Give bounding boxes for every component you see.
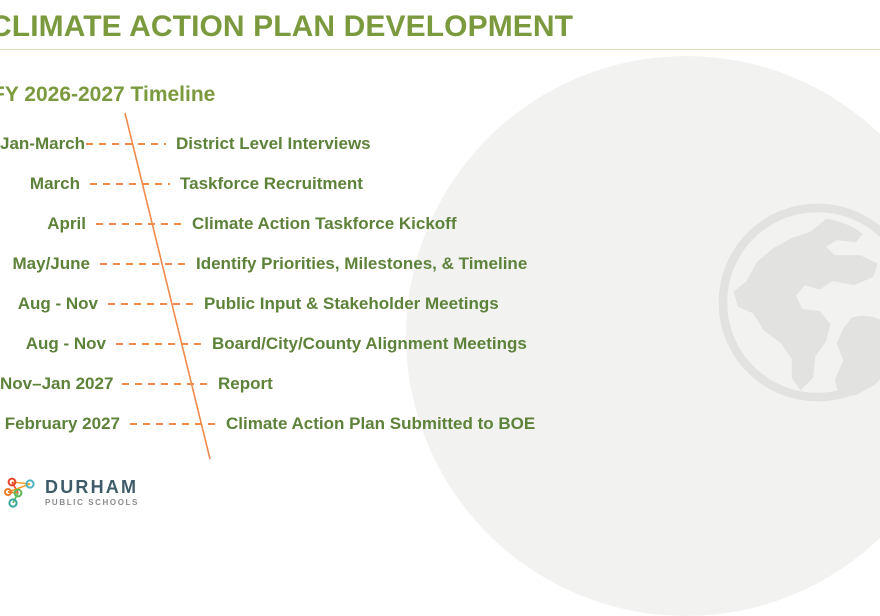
title-divider: [0, 49, 880, 50]
timeline-row: May/JuneIdentify Priorities, Milestones,…: [0, 244, 700, 284]
timeline-connector: [122, 383, 208, 385]
timeline-row: Aug - NovPublic Input & Stakeholder Meet…: [0, 284, 700, 324]
timeline-row: February 2027Climate Action Plan Submitt…: [0, 404, 700, 444]
timeline-period: Jan-March: [0, 134, 76, 154]
timeline-milestone: Board/City/County Alignment Meetings: [212, 334, 527, 354]
timeline-list: Jan-MarchDistrict Level InterviewsMarchT…: [0, 124, 700, 444]
timeline-period: Nov–Jan 2027: [0, 374, 112, 394]
timeline-milestone: Taskforce Recruitment: [180, 174, 363, 194]
timeline-connector: [86, 143, 166, 145]
timeline-period: April: [0, 214, 86, 234]
timeline-row: AprilClimate Action Taskforce Kickoff: [0, 204, 700, 244]
timeline-connector: [130, 423, 216, 425]
timeline-period: Aug - Nov: [0, 334, 106, 354]
timeline-row: Nov–Jan 2027Report: [0, 364, 700, 404]
logo-subtitle: PUBLIC SCHOOLS: [45, 499, 139, 507]
timeline-connector: [90, 183, 170, 185]
timeline-period: Aug - Nov: [0, 294, 98, 314]
timeline-milestone: Identify Priorities, Milestones, & Timel…: [196, 254, 527, 274]
subtitle: FY 2026-2027 Timeline: [0, 83, 215, 107]
timeline-period: March: [0, 174, 80, 194]
timeline-connector: [116, 343, 202, 345]
logo-network-icon: [4, 474, 38, 510]
timeline-row: Jan-MarchDistrict Level Interviews: [0, 124, 700, 164]
timeline-row: MarchTaskforce Recruitment: [0, 164, 700, 204]
district-logo: DURHAM PUBLIC SCHOOLS: [4, 474, 139, 510]
timeline-connector: [108, 303, 194, 305]
timeline-milestone: District Level Interviews: [176, 134, 371, 154]
logo-name: DURHAM: [45, 478, 139, 496]
timeline-milestone: Climate Action Plan Submitted to BOE: [226, 414, 535, 434]
timeline-milestone: Report: [218, 374, 273, 394]
page-title: CLIMATE ACTION PLAN DEVELOPMENT: [0, 10, 573, 44]
timeline-row: Aug - NovBoard/City/County Alignment Mee…: [0, 324, 700, 364]
timeline-period: May/June: [0, 254, 90, 274]
timeline-connector: [100, 263, 186, 265]
timeline-milestone: Public Input & Stakeholder Meetings: [204, 294, 499, 314]
timeline-period: February 2027: [0, 414, 120, 434]
timeline-connector: [96, 223, 182, 225]
globe-icon: [710, 195, 880, 410]
timeline-milestone: Climate Action Taskforce Kickoff: [192, 214, 457, 234]
